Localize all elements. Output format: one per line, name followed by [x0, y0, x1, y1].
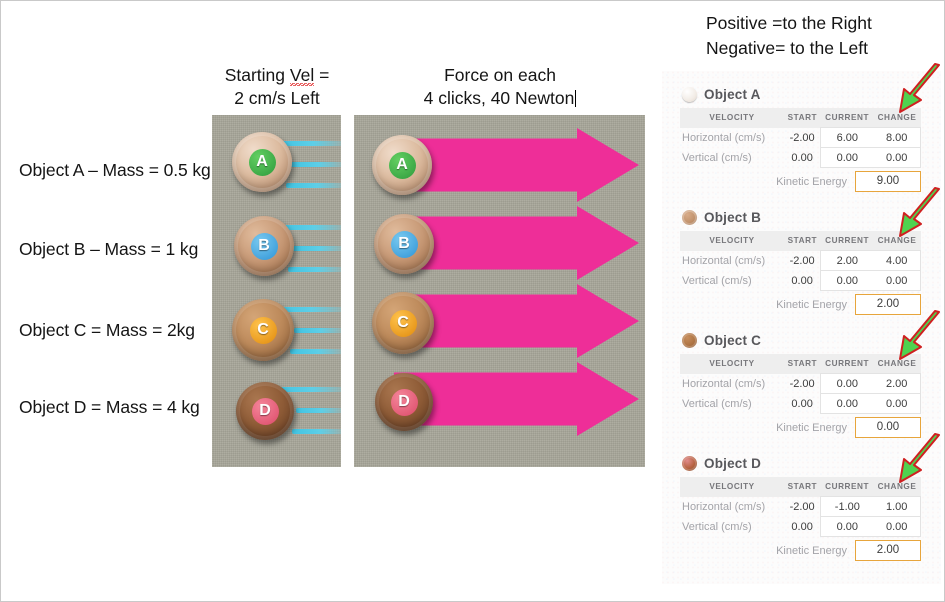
object-block-b: Object B VELOCITY START CURRENT CHANGE H…: [662, 207, 941, 329]
object-b-v-start: 0.00: [784, 271, 821, 291]
puck-c-badge: C: [250, 317, 277, 344]
caption-left-misspelled-word: Vel: [290, 65, 314, 86]
object-a-kinetic-energy-row: Kinetic Energy 9.00: [680, 171, 921, 192]
header-velocity: VELOCITY: [680, 354, 784, 374]
header-change: CHANGE: [873, 231, 920, 251]
caption-left-part-c: =: [314, 65, 329, 85]
object-b-kinetic-energy-row: Kinetic Energy 2.00: [680, 294, 921, 315]
table-header-row: VELOCITY START CURRENT CHANGE: [680, 108, 921, 128]
table-row: Horizontal (cm/s) -2.00 -1.00 1.00: [680, 497, 921, 517]
velocity-trail-c-2: [294, 328, 341, 333]
object-a-v-current[interactable]: 0.00: [821, 148, 874, 168]
header-current: CURRENT: [821, 231, 874, 251]
force-puck-b[interactable]: B: [374, 214, 434, 274]
force-puck-c-badge: C: [390, 310, 417, 337]
object-b-chip-icon: [682, 210, 697, 225]
object-b-v-change: 0.00: [873, 271, 920, 291]
object-c-kinetic-energy-row: Kinetic Energy 0.00: [680, 417, 921, 438]
object-block-c: Object C VELOCITY START CURRENT CHANGE H…: [662, 330, 941, 452]
header-change: CHANGE: [873, 477, 920, 497]
object-b-h-change: 4.00: [873, 251, 920, 271]
object-c-kinetic-energy-value[interactable]: 0.00: [855, 417, 921, 438]
object-a-h-change: 8.00: [873, 128, 920, 148]
puck-d[interactable]: D: [236, 382, 294, 440]
force-puck-b-badge: B: [391, 231, 418, 258]
slide-canvas: Positive =to the Right Negative= to the …: [0, 0, 945, 602]
row-label-horizontal: Horizontal (cm/s): [680, 497, 784, 517]
velocity-trail-d-3: [292, 429, 341, 434]
velocity-trail-b-2: [292, 246, 341, 251]
object-c-v-current[interactable]: 0.00: [821, 394, 874, 414]
row-label-vertical: Vertical (cm/s): [680, 517, 784, 537]
caption-right-line-1: Force on each: [387, 64, 613, 87]
object-d-kinetic-energy-value[interactable]: 2.00: [855, 540, 921, 561]
puck-d-badge: D: [252, 398, 279, 425]
force-puck-a[interactable]: A: [372, 135, 432, 195]
header-current: CURRENT: [821, 354, 874, 374]
object-d-v-start: 0.00: [784, 517, 821, 537]
object-d-h-start: -2.00: [784, 497, 821, 517]
force-simulation[interactable]: A B C D: [354, 115, 645, 467]
object-a-header: Object A: [682, 84, 761, 104]
starting-velocity-simulation[interactable]: A B C D: [212, 115, 341, 467]
object-b-title: Object B: [704, 210, 761, 225]
object-b-h-start: -2.00: [784, 251, 821, 271]
object-d-velocity-table: VELOCITY START CURRENT CHANGE Horizontal…: [680, 477, 921, 537]
object-c-h-current[interactable]: 0.00: [821, 374, 874, 394]
object-a-h-start: -2.00: [784, 128, 821, 148]
object-a-velocity-table: VELOCITY START CURRENT CHANGE Horizontal…: [680, 108, 921, 168]
velocity-trail-d-2: [296, 408, 341, 413]
table-row: Horizontal (cm/s) -2.00 0.00 2.00: [680, 374, 921, 394]
object-d-h-current[interactable]: -1.00: [821, 497, 874, 517]
kinetic-energy-label: Kinetic Energy: [776, 422, 847, 434]
table-header-row: VELOCITY START CURRENT CHANGE: [680, 477, 921, 497]
force-puck-c[interactable]: C: [372, 292, 434, 354]
object-a-h-current[interactable]: 6.00: [821, 128, 874, 148]
object-c-velocity-table: VELOCITY START CURRENT CHANGE Horizontal…: [680, 354, 921, 414]
row-label-vertical: Vertical (cm/s): [680, 271, 784, 291]
object-c-v-change: 0.00: [873, 394, 920, 414]
velocity-trail-b-3: [288, 267, 341, 272]
mass-label-object-b: Object B – Mass = 1 kg: [19, 239, 198, 260]
table-row: Horizontal (cm/s) -2.00 2.00 4.00: [680, 251, 921, 271]
puck-c[interactable]: C: [232, 299, 294, 361]
object-c-v-start: 0.00: [784, 394, 821, 414]
force-puck-d-badge: D: [391, 389, 418, 416]
puck-b[interactable]: B: [234, 216, 294, 276]
velocity-trail-a-2: [290, 162, 341, 167]
left-panel-caption: Starting Vel = 2 cm/s Left: [206, 64, 348, 110]
object-data-panel: Object A VELOCITY START CURRENT CHANGE H…: [662, 71, 941, 584]
object-c-h-start: -2.00: [784, 374, 821, 394]
table-header-row: VELOCITY START CURRENT CHANGE: [680, 231, 921, 251]
kinetic-energy-label: Kinetic Energy: [776, 176, 847, 188]
object-d-header: Object D: [682, 453, 761, 473]
object-a-v-change: 0.00: [873, 148, 920, 168]
force-puck-a-badge: A: [389, 152, 416, 179]
row-label-vertical: Vertical (cm/s): [680, 394, 784, 414]
header-velocity: VELOCITY: [680, 108, 784, 128]
object-a-title: Object A: [704, 87, 761, 102]
header-start: START: [784, 354, 821, 374]
object-a-v-start: 0.00: [784, 148, 821, 168]
object-d-h-change: 1.00: [873, 497, 920, 517]
caption-left-part-a: Starting: [225, 65, 290, 85]
object-c-h-change: 2.00: [873, 374, 920, 394]
header-start: START: [784, 108, 821, 128]
puck-a[interactable]: A: [232, 132, 292, 192]
object-a-kinetic-energy-value[interactable]: 9.00: [855, 171, 921, 192]
puck-a-badge: A: [249, 149, 276, 176]
object-c-header: Object C: [682, 330, 761, 350]
puck-b-badge: B: [251, 233, 278, 260]
row-label-horizontal: Horizontal (cm/s): [680, 251, 784, 271]
force-puck-d[interactable]: D: [375, 373, 433, 431]
table-row: Vertical (cm/s) 0.00 0.00 0.00: [680, 271, 921, 291]
object-d-v-current[interactable]: 0.00: [821, 517, 874, 537]
object-a-chip-icon: [682, 87, 697, 102]
velocity-trail-c-3: [290, 349, 341, 354]
table-row: Vertical (cm/s) 0.00 0.00 0.00: [680, 394, 921, 414]
header-velocity: VELOCITY: [680, 477, 784, 497]
header-change: CHANGE: [873, 354, 920, 374]
object-block-d: Object D VELOCITY START CURRENT CHANGE H…: [662, 453, 941, 575]
object-block-a: Object A VELOCITY START CURRENT CHANGE H…: [662, 84, 941, 206]
row-label-horizontal: Horizontal (cm/s): [680, 128, 784, 148]
kinetic-energy-label: Kinetic Energy: [776, 299, 847, 311]
object-b-velocity-table: VELOCITY START CURRENT CHANGE Horizontal…: [680, 231, 921, 291]
header-start: START: [784, 231, 821, 251]
object-b-kinetic-energy-value[interactable]: 2.00: [855, 294, 921, 315]
row-label-horizontal: Horizontal (cm/s): [680, 374, 784, 394]
object-c-title: Object C: [704, 333, 761, 348]
object-d-v-change: 0.00: [873, 517, 920, 537]
sign-convention-line-1: Positive =to the Right: [706, 11, 872, 36]
header-velocity: VELOCITY: [680, 231, 784, 251]
header-current: CURRENT: [821, 108, 874, 128]
header-change: CHANGE: [873, 108, 920, 128]
mass-label-object-d: Object D = Mass = 4 kg: [19, 397, 200, 418]
right-panel-caption: Force on each 4 clicks, 40 Newton: [387, 64, 613, 110]
table-row: Horizontal (cm/s) -2.00 6.00 8.00: [680, 128, 921, 148]
table-row: Vertical (cm/s) 0.00 0.00 0.00: [680, 517, 921, 537]
kinetic-energy-label: Kinetic Energy: [776, 545, 847, 557]
caption-left-line-2: 2 cm/s Left: [206, 87, 348, 110]
object-d-title: Object D: [704, 456, 761, 471]
sign-convention-line-2: Negative= to the Left: [706, 36, 872, 61]
mass-label-object-a: Object A – Mass = 0.5 kg: [19, 160, 211, 181]
header-current: CURRENT: [821, 477, 874, 497]
velocity-trail-a-3: [286, 183, 341, 188]
header-start: START: [784, 477, 821, 497]
object-d-kinetic-energy-row: Kinetic Energy 2.00: [680, 540, 921, 561]
object-b-v-current[interactable]: 0.00: [821, 271, 874, 291]
sign-convention-note: Positive =to the Right Negative= to the …: [706, 11, 872, 61]
table-header-row: VELOCITY START CURRENT CHANGE: [680, 354, 921, 374]
mass-label-object-c: Object C = Mass = 2kg: [19, 320, 195, 341]
table-row: Vertical (cm/s) 0.00 0.00 0.00: [680, 148, 921, 168]
row-label-vertical: Vertical (cm/s): [680, 148, 784, 168]
object-c-chip-icon: [682, 333, 697, 348]
text-cursor: [575, 90, 576, 107]
object-b-h-current[interactable]: 2.00: [821, 251, 874, 271]
caption-right-line-2: 4 clicks, 40 Newton: [424, 88, 575, 108]
object-d-chip-icon: [682, 456, 697, 471]
object-b-header: Object B: [682, 207, 761, 227]
